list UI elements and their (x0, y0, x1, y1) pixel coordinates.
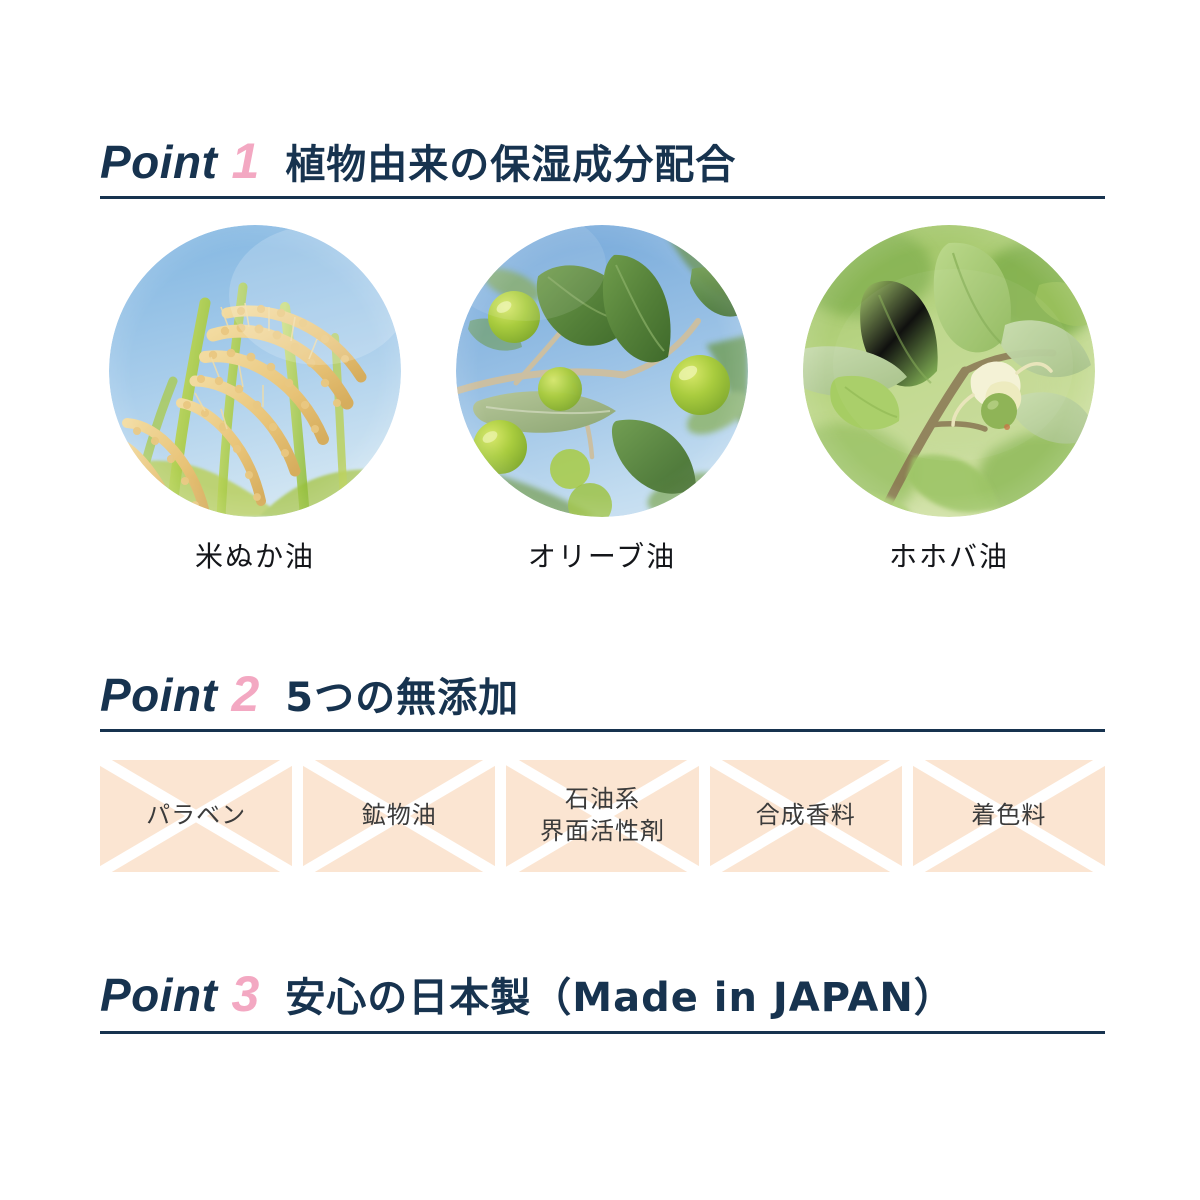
free-from-item-synthetic-fragrance: 合成香料 (710, 760, 902, 872)
ingredient-item-rice-bran: 米ぬか油 (100, 225, 410, 575)
point-1-number: 1 (231, 132, 259, 190)
point-3-label: Point (100, 968, 217, 1022)
ingredient-caption-olive: オリーブ油 (447, 535, 757, 575)
free-from-label: 石油系 界面活性剤 (540, 784, 665, 847)
free-from-item-colorant: 着色料 (913, 760, 1105, 872)
section-point-2: Point 2 5つの無添加 パラベン 鉱物油 石油系 界面活性剤 (100, 665, 1105, 872)
point-2-label: Point (100, 668, 217, 722)
point-2-number: 2 (231, 665, 259, 723)
free-from-row: パラベン 鉱物油 石油系 界面活性剤 合成香料 着色料 (100, 760, 1105, 872)
point-2-title: 5つの無添加 (285, 665, 519, 723)
infographic-page: Point 1 植物由来の保湿成分配合 (0, 0, 1200, 1200)
free-from-label: パラベン (146, 800, 246, 832)
ingredient-item-jojoba: ホホバ油 (794, 225, 1104, 575)
ingredient-circle-row: 米ぬか油 (100, 225, 1105, 555)
ingredient-caption-rice-bran: 米ぬか油 (100, 535, 410, 575)
point-2-heading: Point 2 5つの無添加 (100, 665, 1105, 732)
point-3-heading: Point 3 安心の日本製（Made in JAPAN） (100, 965, 1105, 1034)
free-from-item-mineral-oil: 鉱物油 (303, 760, 495, 872)
free-from-item-petroleum-surfactant: 石油系 界面活性剤 (506, 760, 698, 872)
free-from-label: 着色料 (971, 800, 1046, 832)
jojoba-plant-photo (803, 225, 1095, 517)
ingredient-item-olive: オリーブ油 (447, 225, 757, 575)
section-point-3: Point 3 安心の日本製（Made in JAPAN） (100, 965, 1105, 1034)
point-1-heading: Point 1 植物由来の保湿成分配合 (100, 132, 1105, 199)
free-from-label: 合成香料 (756, 800, 856, 832)
point-3-number: 3 (231, 965, 259, 1023)
ingredient-caption-jojoba: ホホバ油 (794, 535, 1104, 575)
olive-branch-photo (456, 225, 748, 517)
free-from-item-paraben: パラベン (100, 760, 292, 872)
rice-plant-photo (109, 225, 401, 517)
point-1-label: Point (100, 135, 217, 189)
free-from-label: 鉱物油 (362, 800, 437, 832)
point-1-title: 植物由来の保湿成分配合 (285, 132, 736, 190)
section-point-1: Point 1 植物由来の保湿成分配合 (100, 132, 1105, 555)
point-3-title: 安心の日本製（Made in JAPAN） (285, 965, 955, 1023)
